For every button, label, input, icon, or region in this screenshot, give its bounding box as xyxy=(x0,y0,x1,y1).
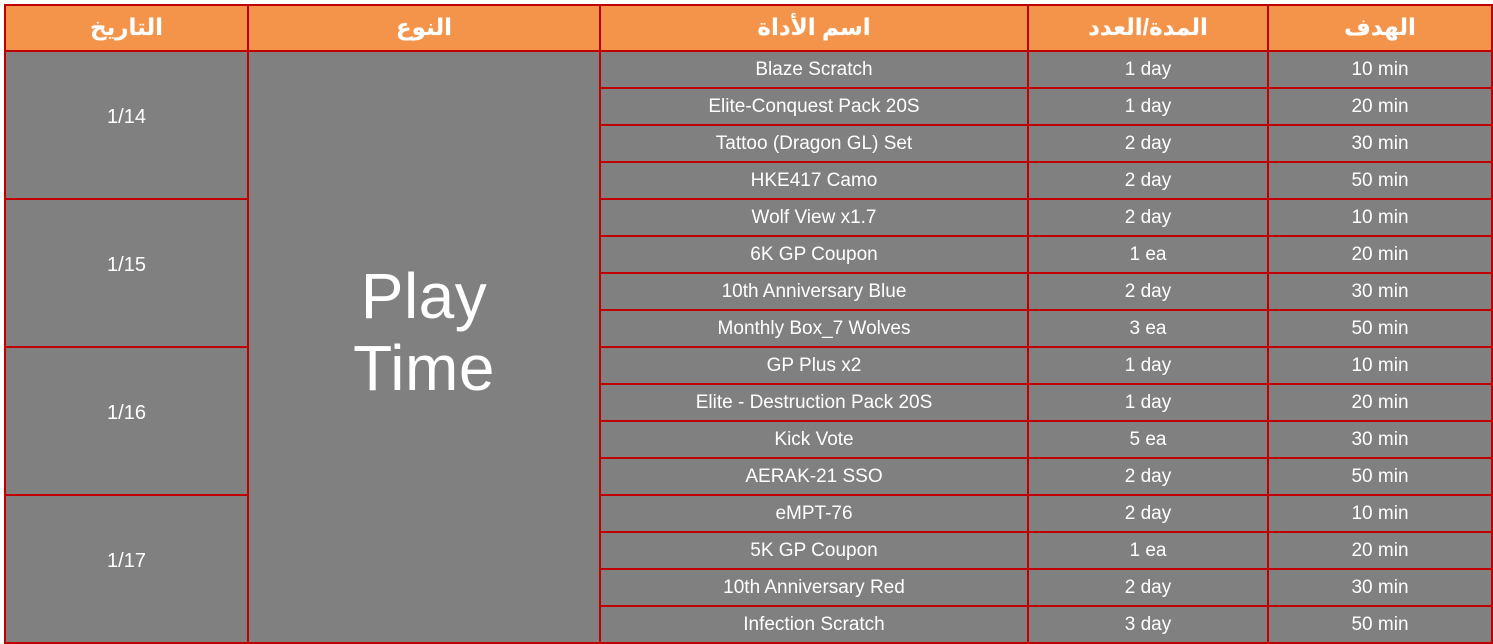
goal-cell[interactable]: 20 min xyxy=(1268,384,1492,421)
duration-count-cell[interactable]: 2 day xyxy=(1028,273,1268,310)
column-header-type[interactable]: النوع xyxy=(248,5,600,51)
tool-name-cell[interactable]: Infection Scratch xyxy=(600,606,1028,643)
column-header-duration-count[interactable]: المدة/العدد xyxy=(1028,5,1268,51)
date-value: 1/14 xyxy=(6,107,247,128)
goal-cell[interactable]: 10 min xyxy=(1268,495,1492,532)
date-cell[interactable]: 1/17 xyxy=(5,495,248,643)
tool-name-cell[interactable]: Elite - Destruction Pack 20S xyxy=(600,384,1028,421)
goal-cell[interactable]: 50 min xyxy=(1268,310,1492,347)
date-cell[interactable]: 1/16 xyxy=(5,347,248,495)
tool-name-cell[interactable]: 5K GP Coupon xyxy=(600,532,1028,569)
play-time-label: PlayTime xyxy=(249,261,599,404)
table-body: 1/14PlayTimeBlaze Scratch1 day10 minElit… xyxy=(5,51,1492,643)
goal-cell[interactable]: 30 min xyxy=(1268,273,1492,310)
date-cell[interactable]: 1/15 xyxy=(5,199,248,347)
table-row: 1/16GP Plus x21 day10 min xyxy=(5,347,1492,384)
duration-count-cell[interactable]: 1 day xyxy=(1028,347,1268,384)
table-row: 1/14PlayTimeBlaze Scratch1 day10 min xyxy=(5,51,1492,88)
duration-count-cell[interactable]: 2 day xyxy=(1028,125,1268,162)
tool-name-cell[interactable]: AERAK-21 SSO xyxy=(600,458,1028,495)
goal-cell[interactable]: 50 min xyxy=(1268,162,1492,199)
column-header-date[interactable]: التاريخ xyxy=(5,5,248,51)
tool-name-cell[interactable]: Elite-Conquest Pack 20S xyxy=(600,88,1028,125)
duration-count-cell[interactable]: 3 day xyxy=(1028,606,1268,643)
column-header-goal[interactable]: الهدف xyxy=(1268,5,1492,51)
goal-cell[interactable]: 30 min xyxy=(1268,125,1492,162)
tool-name-cell[interactable]: 6K GP Coupon xyxy=(600,236,1028,273)
goal-cell[interactable]: 30 min xyxy=(1268,569,1492,606)
tool-name-cell[interactable]: Wolf View x1.7 xyxy=(600,199,1028,236)
date-value: 1/17 xyxy=(6,551,247,572)
date-value: 1/16 xyxy=(6,403,247,424)
tool-name-cell[interactable]: eMPT-76 xyxy=(600,495,1028,532)
tool-name-cell[interactable]: Monthly Box_7 Wolves xyxy=(600,310,1028,347)
duration-count-cell[interactable]: 1 day xyxy=(1028,51,1268,88)
tool-name-cell[interactable]: GP Plus x2 xyxy=(600,347,1028,384)
goal-cell[interactable]: 50 min xyxy=(1268,458,1492,495)
tool-name-cell[interactable]: Tattoo (Dragon GL) Set xyxy=(600,125,1028,162)
tool-name-cell[interactable]: Blaze Scratch xyxy=(600,51,1028,88)
duration-count-cell[interactable]: 2 day xyxy=(1028,495,1268,532)
duration-count-cell[interactable]: 2 day xyxy=(1028,199,1268,236)
goal-cell[interactable]: 20 min xyxy=(1268,236,1492,273)
duration-count-cell[interactable]: 1 day xyxy=(1028,384,1268,421)
goal-cell[interactable]: 10 min xyxy=(1268,199,1492,236)
duration-count-cell[interactable]: 2 day xyxy=(1028,569,1268,606)
goal-cell[interactable]: 20 min xyxy=(1268,88,1492,125)
goal-cell[interactable]: 10 min xyxy=(1268,51,1492,88)
column-header-tool-name[interactable]: اسم الأداة xyxy=(600,5,1028,51)
duration-count-cell[interactable]: 1 ea xyxy=(1028,236,1268,273)
date-cell[interactable]: 1/14 xyxy=(5,51,248,199)
play-time-line: Play xyxy=(249,261,599,333)
tool-name-cell[interactable]: 10th Anniversary Blue xyxy=(600,273,1028,310)
tool-name-cell[interactable]: Kick Vote xyxy=(600,421,1028,458)
duration-count-cell[interactable]: 2 day xyxy=(1028,162,1268,199)
duration-count-cell[interactable]: 2 day xyxy=(1028,458,1268,495)
table-header: التاريخ النوع اسم الأداة المدة/العدد اله… xyxy=(5,5,1492,51)
duration-count-cell[interactable]: 3 ea xyxy=(1028,310,1268,347)
header-row: التاريخ النوع اسم الأداة المدة/العدد اله… xyxy=(5,5,1492,51)
table-row: 1/15Wolf View x1.72 day10 min xyxy=(5,199,1492,236)
goal-cell[interactable]: 30 min xyxy=(1268,421,1492,458)
goal-cell[interactable]: 20 min xyxy=(1268,532,1492,569)
goal-cell[interactable]: 10 min xyxy=(1268,347,1492,384)
spreadsheet-sheet: التاريخ النوع اسم الأداة المدة/العدد اله… xyxy=(0,0,1493,614)
tool-name-cell[interactable]: 10th Anniversary Red xyxy=(600,569,1028,606)
goal-cell[interactable]: 50 min xyxy=(1268,606,1492,643)
type-merged-cell[interactable]: PlayTime xyxy=(248,51,600,643)
tool-name-cell[interactable]: HKE417 Camo xyxy=(600,162,1028,199)
schedule-table: التاريخ النوع اسم الأداة المدة/العدد اله… xyxy=(4,4,1493,644)
date-value: 1/15 xyxy=(6,255,247,276)
table-row: 1/17eMPT-762 day10 min xyxy=(5,495,1492,532)
duration-count-cell[interactable]: 1 ea xyxy=(1028,532,1268,569)
play-time-line: Time xyxy=(249,333,599,405)
duration-count-cell[interactable]: 1 day xyxy=(1028,88,1268,125)
duration-count-cell[interactable]: 5 ea xyxy=(1028,421,1268,458)
